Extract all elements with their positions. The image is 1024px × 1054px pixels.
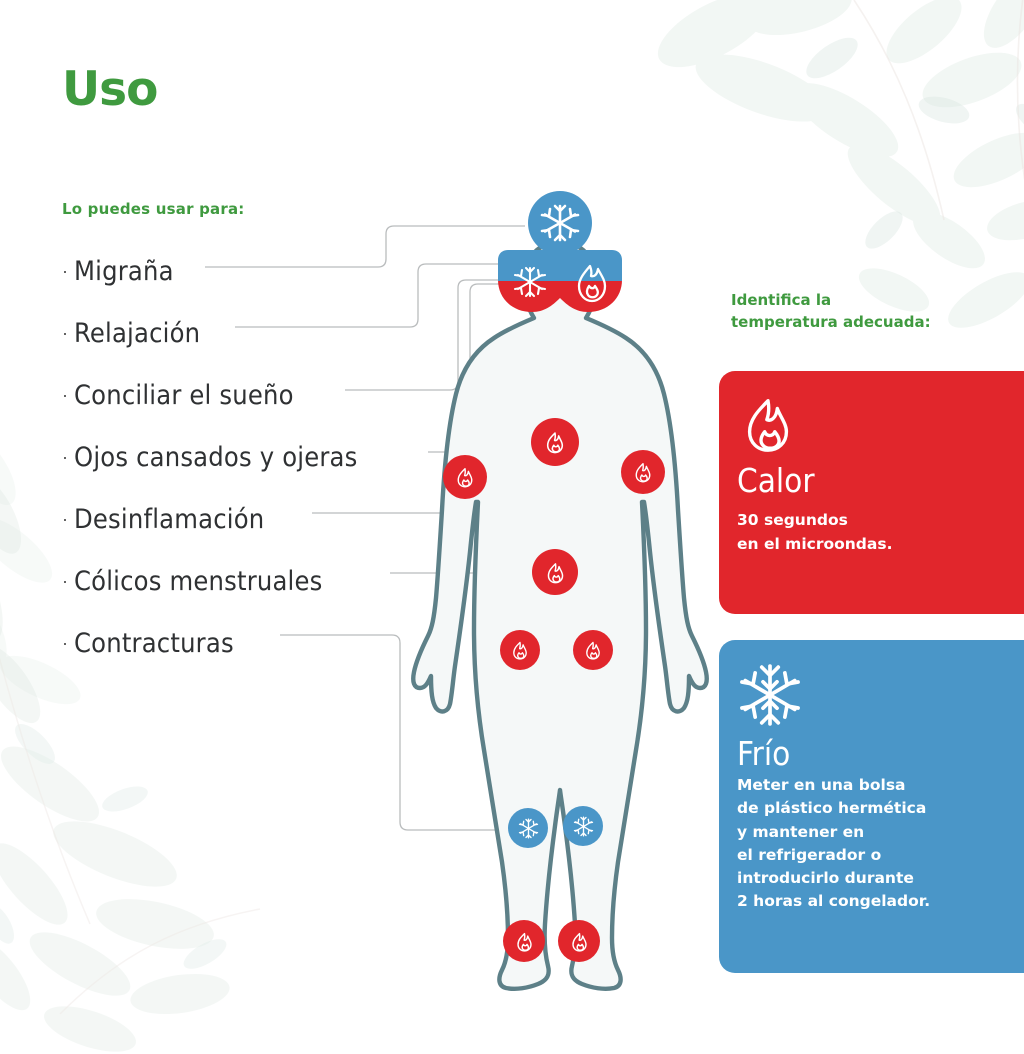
temperature-heading: Identifica la temperatura adecuada:	[731, 290, 1021, 334]
badge-thigh-left[interactable]	[500, 630, 540, 670]
badge-arm-right[interactable]	[621, 450, 665, 494]
temperature-card-body: 30 segundos en el microondas.	[737, 509, 1024, 556]
badge-foot-left[interactable]	[503, 920, 545, 962]
eye-mask-top-half	[494, 246, 626, 281]
badge-arm-left[interactable]	[443, 455, 487, 499]
temperature-card-body: Meter en una bolsa de plástico hermética…	[737, 774, 1024, 914]
temperature-card-title: Frío	[737, 737, 1024, 770]
flame-icon	[582, 639, 604, 661]
badge-thigh-right[interactable]	[573, 630, 613, 670]
temperature-card-title: Calor	[737, 464, 1024, 497]
badge-chest[interactable]	[531, 418, 579, 466]
flame-icon	[509, 639, 531, 661]
temperature-card-calor[interactable]: Calor 30 segundos en el microondas.	[719, 371, 1024, 614]
badge-abdomen[interactable]	[532, 549, 578, 595]
flame-icon	[543, 560, 568, 585]
badge-knee-right[interactable]	[563, 806, 603, 846]
snowflake-icon	[517, 817, 540, 840]
flame-icon	[513, 930, 536, 953]
flame-icon	[453, 465, 477, 489]
badge-knee-left[interactable]	[508, 808, 548, 848]
flame-icon-card	[737, 393, 1024, 460]
temperature-card-frio[interactable]: Frío Meter en una bolsa de plástico herm…	[719, 640, 1024, 973]
badge-foot-right[interactable]	[558, 920, 600, 962]
flame-icon	[631, 460, 655, 484]
flame-icon	[542, 429, 568, 455]
snowflake-icon-card	[737, 662, 1024, 733]
infographic-canvas: Uso Lo puedes usar para: · Migraña · Rel…	[0, 0, 1024, 1024]
snowflake-icon	[572, 815, 595, 838]
flame-icon	[568, 930, 591, 953]
